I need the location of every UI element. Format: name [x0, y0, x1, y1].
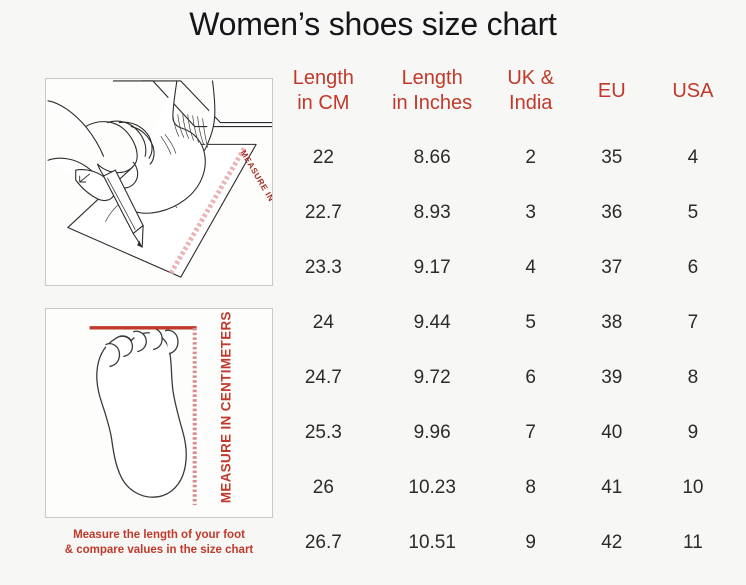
cell-uk-india: 3 — [490, 185, 572, 240]
outline-ruler-label: MEASURE IN CENTIMETERS — [218, 311, 233, 503]
measure-caption-line-1: Measure the length of your foot — [45, 528, 273, 543]
illustration-column: MEASURE IN CENTIMETERS MEASURE IN CENTIM… — [45, 78, 273, 558]
column-header-usa: USA — [652, 66, 734, 130]
cell-uk-india: 8 — [490, 460, 572, 515]
cell-uk-india: 6 — [490, 350, 572, 405]
cell-uk-india: 2 — [490, 130, 572, 185]
cell-usa: 5 — [652, 185, 734, 240]
cell-eu: 37 — [572, 240, 652, 295]
table-row: 22 8.66 2 35 4 — [272, 130, 734, 185]
column-header-line-1: EU — [572, 79, 652, 104]
cell-length-inches: 9.96 — [375, 405, 490, 460]
column-header-line-1: Length — [272, 66, 375, 91]
cell-eu: 40 — [572, 405, 652, 460]
table-row: 24 9.44 5 38 7 — [272, 295, 734, 350]
cell-usa: 9 — [652, 405, 734, 460]
cell-length-inches: 9.17 — [375, 240, 490, 295]
cell-eu: 38 — [572, 295, 652, 350]
table-row: 23.3 9.17 4 37 6 — [272, 240, 734, 295]
cell-length-inches: 9.44 — [375, 295, 490, 350]
foot-outline-illustration: MEASURE IN CENTIMETERS — [45, 308, 273, 518]
cell-eu: 39 — [572, 350, 652, 405]
cell-eu: 35 — [572, 130, 652, 185]
column-header-line-2: India — [490, 91, 572, 116]
cell-length-inches: 8.66 — [375, 130, 490, 185]
column-header-eu: EU — [572, 66, 652, 130]
cell-uk-india: 5 — [490, 295, 572, 350]
cell-length-cm: 24 — [272, 295, 375, 350]
page-title: Women’s shoes size chart — [0, 6, 746, 43]
size-chart-table: Length in CM Length in Inches UK & India… — [272, 66, 734, 570]
column-header-length-cm: Length in CM — [272, 66, 375, 130]
cell-usa: 10 — [652, 460, 734, 515]
table-row: 26.7 10.51 9 42 11 — [272, 515, 734, 570]
cell-uk-india: 4 — [490, 240, 572, 295]
cell-length-cm: 22.7 — [272, 185, 375, 240]
column-header-line-2: in Inches — [375, 91, 490, 116]
measure-caption: Measure the length of your foot & compar… — [45, 528, 273, 558]
measure-caption-line-2: & compare values in the size chart — [45, 543, 273, 558]
cell-length-inches: 10.23 — [375, 460, 490, 515]
foot-outline-drawing: MEASURE IN CENTIMETERS — [46, 309, 272, 517]
table-header-row: Length in CM Length in Inches UK & India… — [272, 66, 734, 130]
cell-usa: 6 — [652, 240, 734, 295]
cell-length-inches: 8.93 — [375, 185, 490, 240]
table-row: 26 10.23 8 41 10 — [272, 460, 734, 515]
column-header-length-inches: Length in Inches — [375, 66, 490, 130]
column-header-line-1: USA — [652, 79, 734, 104]
cell-length-cm: 23.3 — [272, 240, 375, 295]
column-header-uk-india: UK & India — [490, 66, 572, 130]
cell-length-cm: 22 — [272, 130, 375, 185]
cell-usa: 11 — [652, 515, 734, 570]
cell-length-cm: 24.7 — [272, 350, 375, 405]
cell-uk-india: 9 — [490, 515, 572, 570]
cell-usa: 7 — [652, 295, 734, 350]
cell-length-cm: 26.7 — [272, 515, 375, 570]
cell-uk-india: 7 — [490, 405, 572, 460]
column-header-line-1: Length — [375, 66, 490, 91]
column-header-line-1: UK & — [490, 66, 572, 91]
column-header-line-2: in CM — [272, 91, 375, 116]
cell-eu: 42 — [572, 515, 652, 570]
table-row: 25.3 9.96 7 40 9 — [272, 405, 734, 460]
cell-eu: 36 — [572, 185, 652, 240]
table-row: 22.7 8.93 3 36 5 — [272, 185, 734, 240]
foot-tracing-illustration: MEASURE IN CENTIMETERS — [45, 78, 273, 286]
cell-length-cm: 25.3 — [272, 405, 375, 460]
cell-length-inches: 9.72 — [375, 350, 490, 405]
foot-tracing-drawing: MEASURE IN CENTIMETERS — [46, 79, 272, 285]
cell-usa: 4 — [652, 130, 734, 185]
cell-usa: 8 — [652, 350, 734, 405]
cell-length-cm: 26 — [272, 460, 375, 515]
cell-length-inches: 10.51 — [375, 515, 490, 570]
table-row: 24.7 9.72 6 39 8 — [272, 350, 734, 405]
cell-eu: 41 — [572, 460, 652, 515]
